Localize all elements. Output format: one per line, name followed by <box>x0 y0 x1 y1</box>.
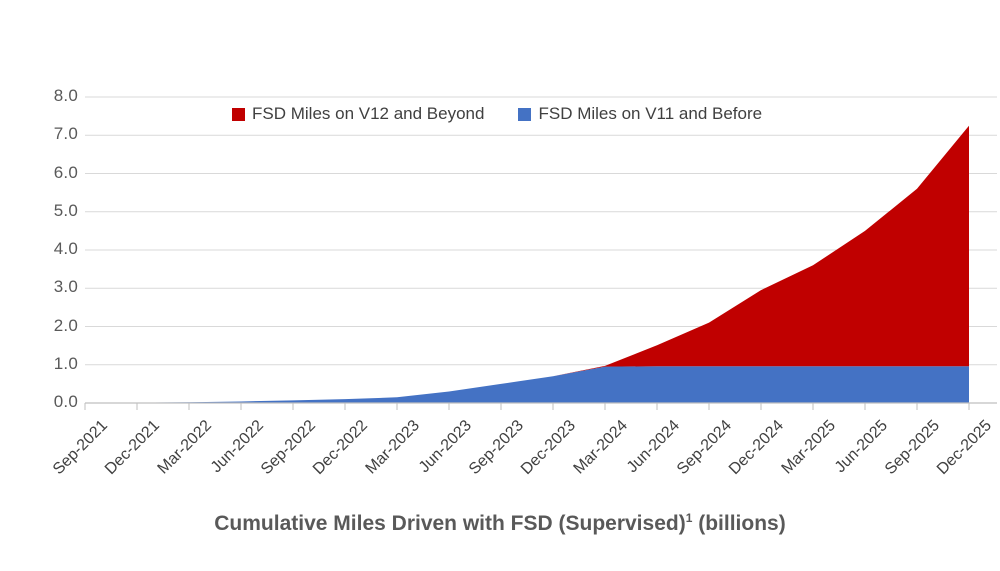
chart-title: Cumulative Miles Driven with FSD (Superv… <box>0 512 1000 536</box>
area-chart: 0.01.02.03.04.05.06.07.08.0 Sep-2021Dec-… <box>0 0 1000 557</box>
chart-title-main: Cumulative Miles Driven with FSD (Superv… <box>214 512 685 535</box>
legend-swatch-icon <box>518 108 531 121</box>
legend-swatch-icon <box>232 108 245 121</box>
legend-entry[interactable]: FSD Miles on V11 and Before <box>518 104 762 124</box>
x-axis-labels: Sep-2021Dec-2021Mar-2022Jun-2022Sep-2022… <box>0 0 1000 557</box>
chart-title-suffix: (billions) <box>692 512 785 535</box>
chart-legend: FSD Miles on V12 and BeyondFSD Miles on … <box>232 104 762 124</box>
legend-entry[interactable]: FSD Miles on V12 and Beyond <box>232 104 484 124</box>
legend-label: FSD Miles on V11 and Before <box>538 104 762 124</box>
legend-label: FSD Miles on V12 and Beyond <box>252 104 484 124</box>
